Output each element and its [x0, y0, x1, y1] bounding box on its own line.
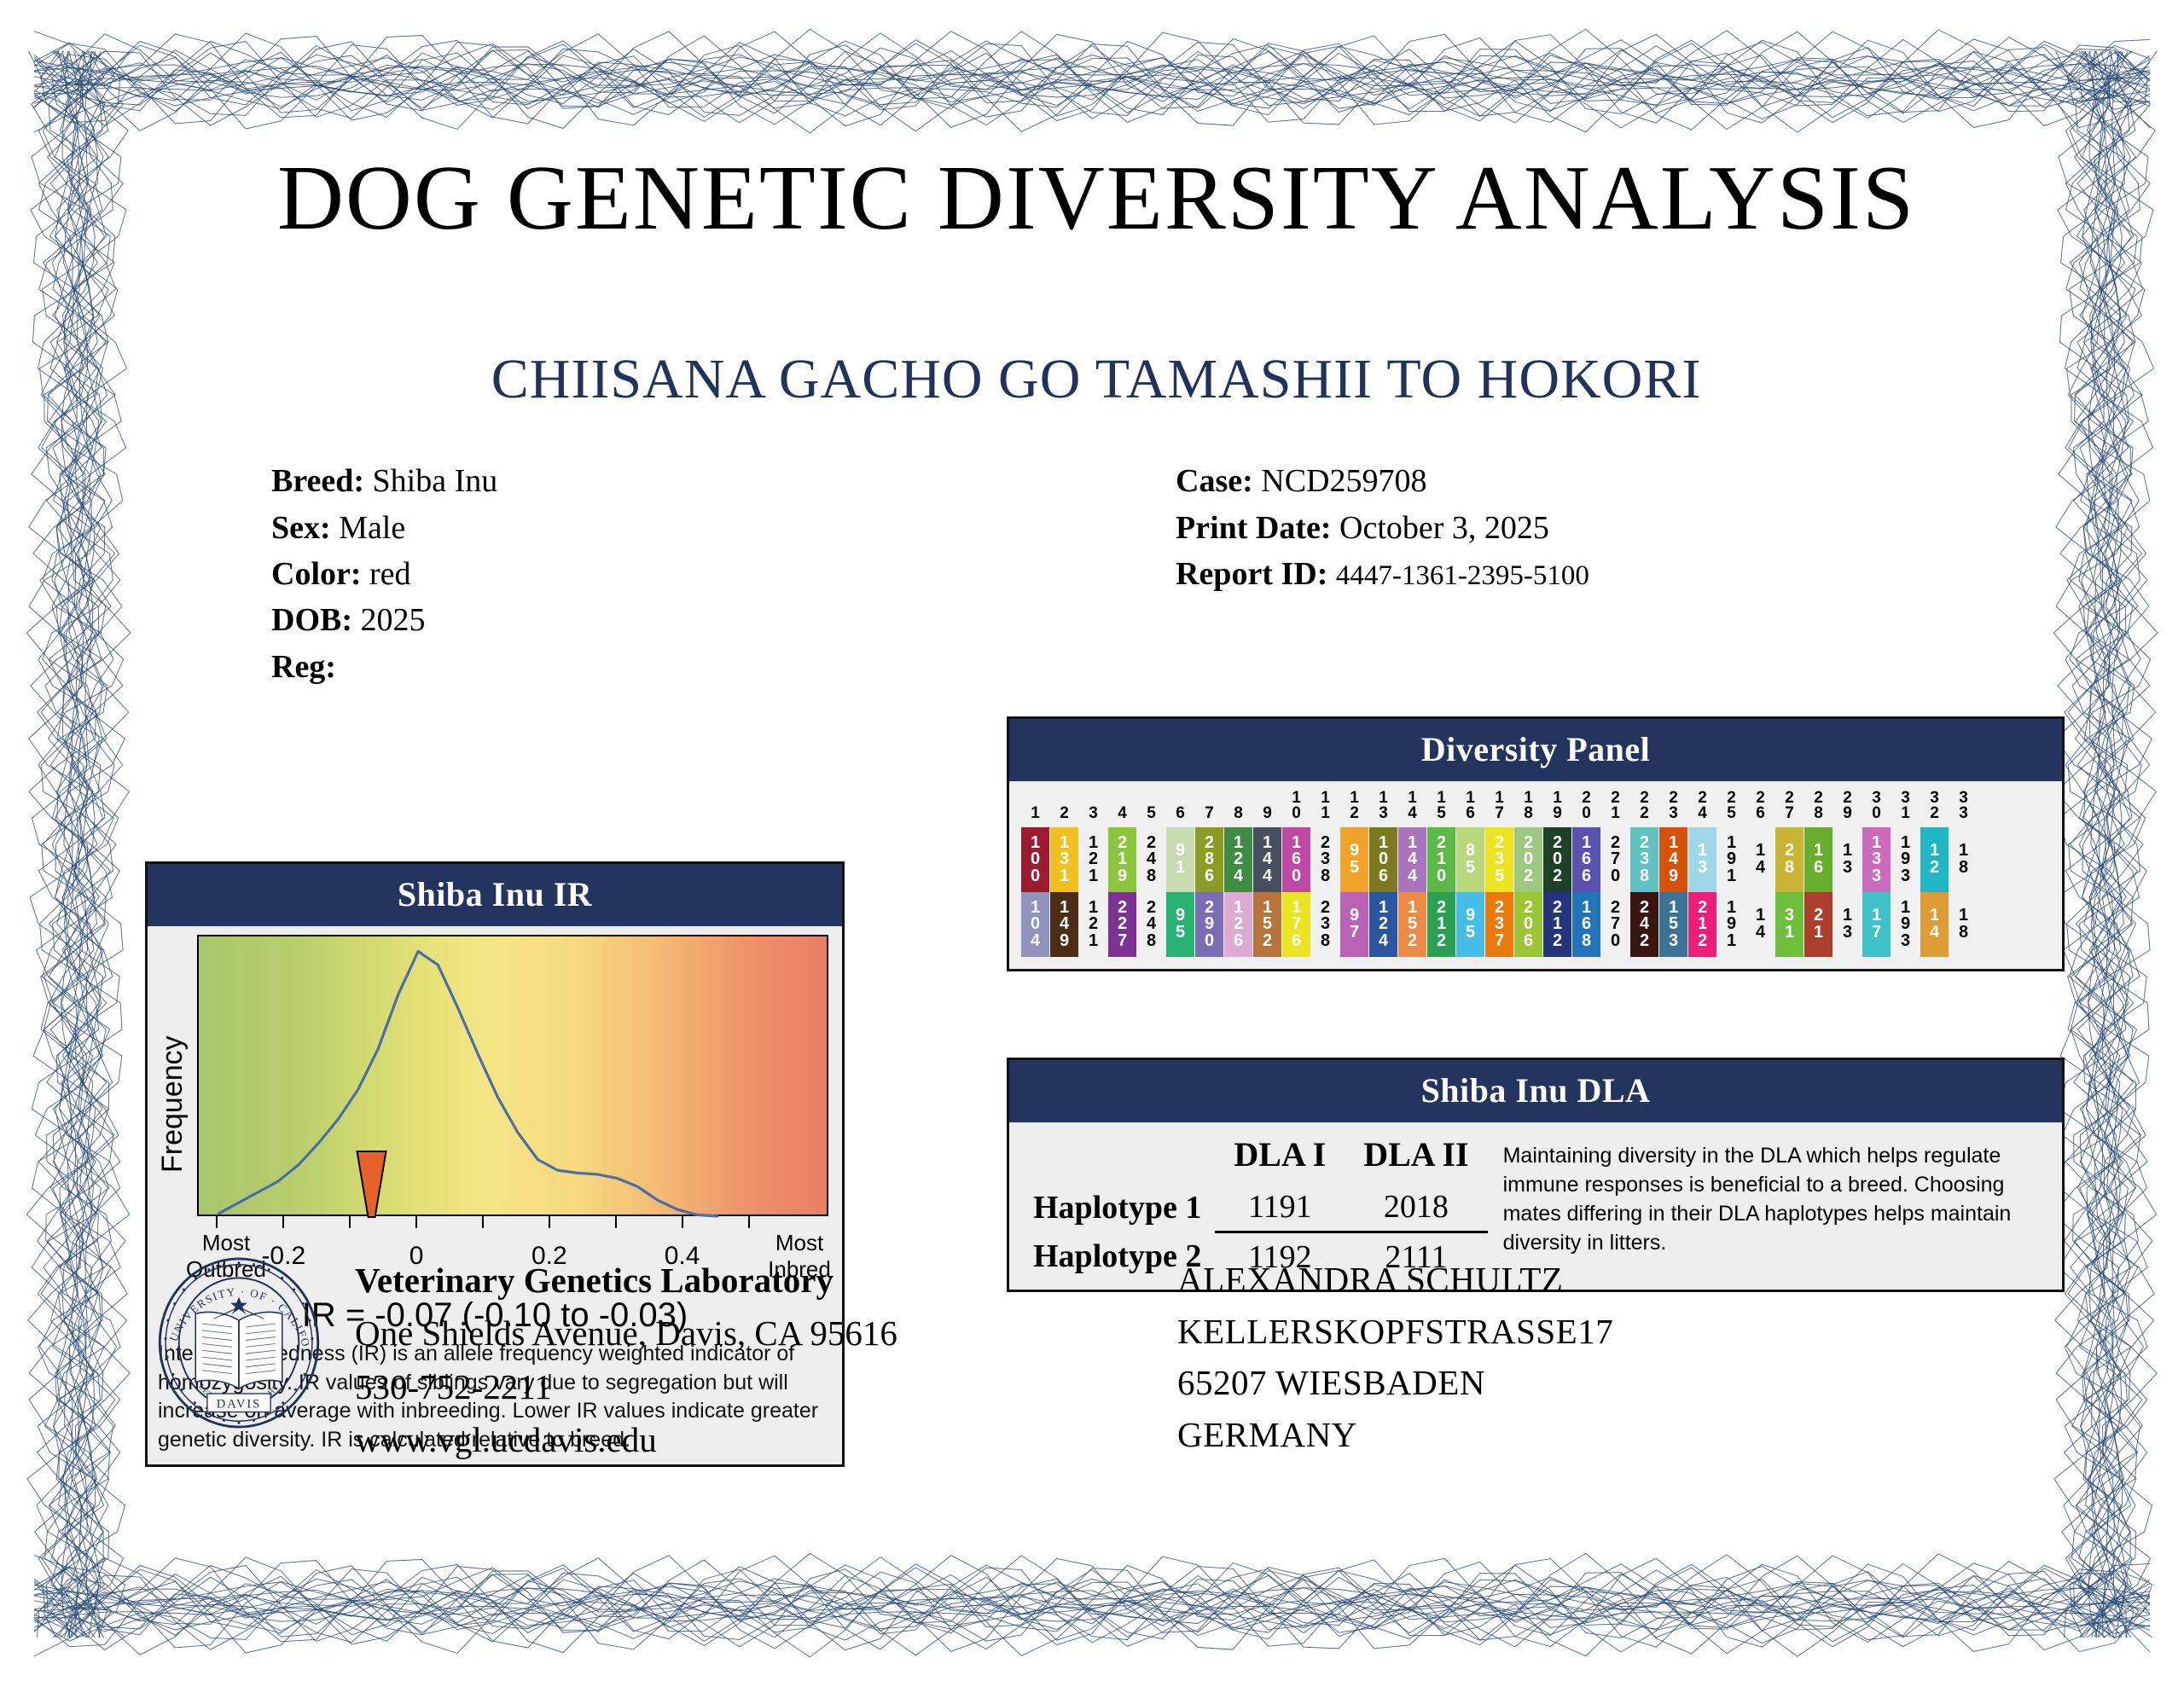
allele-2: 17	[1862, 892, 1891, 957]
allele-1: 270	[1601, 827, 1629, 892]
locus-column: 21270270	[1601, 788, 1629, 957]
client-name: ALEXANDRA SCHULTZ	[1177, 1254, 1613, 1306]
allele-1: 12	[1920, 827, 1949, 892]
locus-column: 25191191	[1717, 788, 1745, 957]
locus-column: 23149153	[1659, 788, 1687, 957]
locus-number: 26	[1746, 788, 1774, 827]
allele-2: 212	[1427, 892, 1455, 957]
locus-number: 27	[1775, 788, 1804, 827]
dob-label: DOB:	[271, 602, 352, 638]
allele-2: 191	[1717, 892, 1745, 957]
case-info-block: Case: NCD259708 Print Date: October 3, 2…	[1176, 458, 2029, 690]
allele-1: 131	[1050, 827, 1078, 892]
locus-number: 13	[1369, 788, 1397, 827]
locus-number: 29	[1833, 788, 1862, 827]
locus-column: 22238242	[1630, 788, 1658, 957]
allele-1: 13	[1688, 827, 1716, 892]
print-date-label: Print Date:	[1176, 510, 1332, 546]
ir-plot-column: MostOutbred-0.200.20.4MostInbred	[197, 935, 828, 1295]
breed-line: Breed: Shiba Inu	[271, 458, 1176, 504]
report-id-label: Report ID:	[1176, 556, 1327, 592]
allele-2: 152	[1253, 892, 1281, 957]
allele-2: 126	[1224, 892, 1252, 957]
locus-number: 33	[1949, 788, 1978, 827]
breed-label: Breed:	[271, 463, 364, 499]
locus-column: 168595	[1456, 788, 1484, 957]
allele-2: 227	[1108, 892, 1136, 957]
info-row: Breed: Shiba Inu Sex: Male Color: red DO…	[128, 458, 2065, 690]
locus-column: 3013317	[1862, 788, 1891, 957]
locus-number: 28	[1804, 788, 1833, 827]
allele-2: 270	[1601, 892, 1629, 957]
allele-1: 95	[1340, 827, 1368, 892]
allele-1: 248	[1137, 827, 1165, 892]
reg-line: Reg:	[271, 644, 1176, 690]
locus-column: 19202212	[1543, 788, 1571, 957]
dla-col-1: DLA I	[1215, 1129, 1345, 1183]
report-id-line: Report ID: 4447-1361-2395-5100	[1176, 551, 2029, 597]
allele-2: 124	[1369, 892, 1397, 957]
allele-1: 18	[1949, 827, 1978, 892]
allele-1: 149	[1659, 827, 1687, 892]
locus-column: 10160176	[1282, 788, 1310, 957]
table-row: Haplotype 1 1191 2018	[1028, 1183, 1488, 1232]
allele-2: 212	[1543, 892, 1571, 957]
locus-column: 321214	[1920, 788, 1949, 957]
allele-1: 91	[1166, 827, 1194, 892]
locus-number: 15	[1427, 788, 1455, 827]
dob-value: 2025	[361, 602, 426, 638]
client-address-block: ALEXANDRA SCHULTZ KELLERSKOPFSTRASSE17 6…	[1126, 1254, 1613, 1466]
allele-2: 95	[1166, 892, 1194, 957]
locus-number: 21	[1601, 788, 1629, 827]
locus-number: 20	[1572, 788, 1600, 827]
allele-2: 290	[1195, 892, 1223, 957]
locus-number: 16	[1456, 788, 1484, 827]
locus-number: 8	[1224, 788, 1252, 827]
locus-number: 23	[1659, 788, 1687, 827]
locus-number: 10	[1282, 788, 1310, 827]
allele-1: 286	[1195, 827, 1223, 892]
svg-text:DAVIS: DAVIS	[217, 1398, 262, 1412]
allele-2: 176	[1282, 892, 1310, 957]
locus-number: 31	[1891, 788, 1920, 827]
allele-2: 206	[1514, 892, 1542, 957]
locus-column: 129597	[1340, 788, 1368, 957]
allele-1: 144	[1398, 827, 1426, 892]
locus-column: 1100104	[1021, 788, 1049, 957]
allele-1: 106	[1369, 827, 1397, 892]
dla-col-blank	[1028, 1129, 1215, 1183]
locus-number: 17	[1485, 788, 1513, 827]
haplotype-1-label: Haplotype 1	[1028, 1183, 1215, 1232]
allele-2: 242	[1630, 892, 1658, 957]
haplotype-1-dla2: 2018	[1345, 1183, 1487, 1232]
sex-label: Sex:	[271, 510, 331, 546]
locus-column: 11238238	[1311, 788, 1339, 957]
locus-column: 331818	[1949, 788, 1978, 957]
color-line: Color: red	[271, 551, 1176, 597]
certificate-page: DOG GENETIC DIVERSITY ANALYSIS CHIISANA …	[128, 119, 2065, 1569]
haplotype-1-dla1: 1191	[1215, 1183, 1345, 1232]
locus-number: 12	[1340, 788, 1368, 827]
diversity-panel-header: Diversity Panel	[1009, 719, 2062, 781]
client-country: GERMANY	[1177, 1409, 1613, 1461]
allele-1: 133	[1862, 827, 1891, 892]
allele-2: 248	[1137, 892, 1165, 957]
sex-value: Male	[339, 510, 405, 546]
diversity-panel-grid: 1100104213114931211214219227524824869195…	[1021, 788, 2050, 957]
allele-2: 237	[1485, 892, 1513, 957]
dog-name: CHIISANA GACHO GO TAMASHII TO HOKORI	[128, 347, 2065, 412]
lab-info: Veterinary Genetics Laboratory One Shiel…	[324, 1254, 897, 1466]
case-value: NCD259708	[1261, 463, 1426, 499]
footer: THE · UNIVERSITY · OF · CALIFORNIA	[128, 1254, 2065, 1466]
allele-2: 153	[1659, 892, 1687, 957]
locus-number: 2	[1050, 788, 1078, 827]
locus-column: 14144152	[1398, 788, 1426, 957]
color-label: Color:	[271, 556, 362, 592]
allele-1: 100	[1021, 827, 1049, 892]
allele-1: 202	[1514, 827, 1542, 892]
locus-number: 18	[1514, 788, 1542, 827]
locus-number: 19	[1543, 788, 1571, 827]
ir-chart-wrapper: Frequency MostOutbred-0.200.20.4MostInbr…	[158, 935, 832, 1295]
dla-panel-header: Shiba Inu DLA	[1009, 1060, 2062, 1122]
locus-number: 32	[1920, 788, 1949, 827]
locus-number: 9	[1253, 788, 1281, 827]
footer-lab-block: THE · UNIVERSITY · OF · CALIFORNIA	[128, 1254, 1126, 1466]
allele-2: 121	[1079, 892, 1107, 957]
lab-address: One Shields Avenue, Davis, CA 95616	[355, 1307, 897, 1359]
dog-info-block: Breed: Shiba Inu Sex: Male Color: red DO…	[271, 458, 1176, 690]
ir-axis-ticks	[197, 1216, 828, 1230]
locus-column: 7286290	[1195, 788, 1223, 957]
locus-column: 291313	[1833, 788, 1862, 957]
diversity-panel: Diversity Panel 110010421311493121121421…	[1007, 716, 2065, 971]
locus-number: 22	[1630, 788, 1658, 827]
allele-1: 160	[1282, 827, 1310, 892]
locus-column: 2131149	[1050, 788, 1078, 957]
allele-1: 121	[1079, 827, 1107, 892]
locus-column: 8124126	[1224, 788, 1252, 957]
client-city: 65207 WIESBADEN	[1177, 1357, 1613, 1409]
locus-column: 4219227	[1108, 788, 1136, 957]
allele-1: 85	[1456, 827, 1484, 892]
dla-header-row: DLA I DLA II	[1028, 1129, 1488, 1183]
locus-number: 6	[1166, 788, 1194, 827]
locus-number: 25	[1717, 788, 1745, 827]
ir-marker-triangle	[199, 936, 830, 1218]
allele-2: 193	[1891, 892, 1920, 957]
allele-2: 104	[1021, 892, 1049, 957]
ir-plot-area	[197, 935, 828, 1216]
locus-column: 69195	[1166, 788, 1194, 957]
allele-2: 152	[1398, 892, 1426, 957]
allele-1: 144	[1253, 827, 1281, 892]
allele-1: 238	[1311, 827, 1339, 892]
diversity-panel-body: 1100104213114931211214219227524824869195…	[1009, 781, 2062, 969]
lab-phone: 530-752-2211	[355, 1360, 897, 1413]
locus-column: 13106124	[1369, 788, 1397, 957]
locus-column: 3121121	[1079, 788, 1107, 957]
print-date-line: Print Date: October 3, 2025	[1176, 505, 2029, 551]
allele-1: 235	[1485, 827, 1513, 892]
locus-column: 2413212	[1688, 788, 1716, 957]
locus-column: 272831	[1775, 788, 1804, 957]
allele-1: 193	[1891, 827, 1920, 892]
locus-column: 261414	[1746, 788, 1774, 957]
allele-2: 31	[1775, 892, 1804, 957]
allele-2: 168	[1572, 892, 1600, 957]
locus-number: 3	[1079, 788, 1107, 827]
locus-number: 4	[1108, 788, 1136, 827]
allele-1: 202	[1543, 827, 1571, 892]
lab-website[interactable]: www.vgl.ucdavis.edu	[355, 1413, 897, 1466]
allele-2: 13	[1833, 892, 1862, 957]
report-id-value: 4447-1361-2395-5100	[1336, 560, 1589, 591]
locus-column: 15210212	[1427, 788, 1455, 957]
locus-column: 281621	[1804, 788, 1833, 957]
allele-2: 14	[1920, 892, 1949, 957]
allele-1: 219	[1108, 827, 1136, 892]
locus-column: 5248248	[1137, 788, 1165, 957]
locus-column: 17235237	[1485, 788, 1513, 957]
color-value: red	[369, 556, 411, 592]
locus-column: 20166168	[1572, 788, 1600, 957]
ir-panel-header: Shiba Inu IR	[148, 864, 842, 926]
allele-1: 238	[1630, 827, 1658, 892]
locus-number: 24	[1688, 788, 1716, 827]
allele-2: 14	[1746, 892, 1774, 957]
locus-column: 9144152	[1253, 788, 1281, 957]
allele-1: 191	[1717, 827, 1745, 892]
case-label: Case:	[1176, 463, 1253, 499]
allele-2: 95	[1456, 892, 1484, 957]
allele-2: 238	[1311, 892, 1339, 957]
allele-1: 210	[1427, 827, 1455, 892]
locus-column: 31193193	[1891, 788, 1920, 957]
allele-2: 21	[1804, 892, 1833, 957]
locus-number: 7	[1195, 788, 1223, 827]
print-date-value: October 3, 2025	[1339, 510, 1549, 546]
allele-2: 212	[1688, 892, 1716, 957]
allele-1: 28	[1775, 827, 1804, 892]
allele-2: 18	[1949, 892, 1978, 957]
allele-1: 16	[1804, 827, 1833, 892]
dob-line: DOB: 2025	[271, 597, 1176, 643]
allele-1: 14	[1746, 827, 1774, 892]
uc-davis-seal-icon: THE · UNIVERSITY · OF · CALIFORNIA	[154, 1255, 324, 1430]
allele-1: 166	[1572, 827, 1600, 892]
lab-name: Veterinary Genetics Laboratory	[355, 1254, 897, 1307]
client-street: KELLERSKOPFSTRASSE17	[1177, 1306, 1613, 1358]
dla-col-2: DLA II	[1345, 1129, 1487, 1183]
case-line: Case: NCD259708	[1176, 458, 2029, 504]
locus-number: 14	[1398, 788, 1426, 827]
locus-number: 5	[1137, 788, 1165, 827]
reg-label: Reg:	[271, 649, 336, 685]
allele-2: 97	[1340, 892, 1368, 957]
sex-line: Sex: Male	[271, 505, 1176, 551]
locus-column: 18202206	[1514, 788, 1542, 957]
page-title: DOG GENETIC DIVERSITY ANALYSIS	[128, 150, 2065, 246]
locus-number: 11	[1311, 788, 1339, 827]
allele-2: 149	[1050, 892, 1078, 957]
breed-value: Shiba Inu	[373, 463, 498, 499]
locus-number: 30	[1862, 788, 1891, 827]
locus-number: 1	[1021, 788, 1049, 827]
allele-1: 13	[1833, 827, 1862, 892]
allele-1: 124	[1224, 827, 1252, 892]
